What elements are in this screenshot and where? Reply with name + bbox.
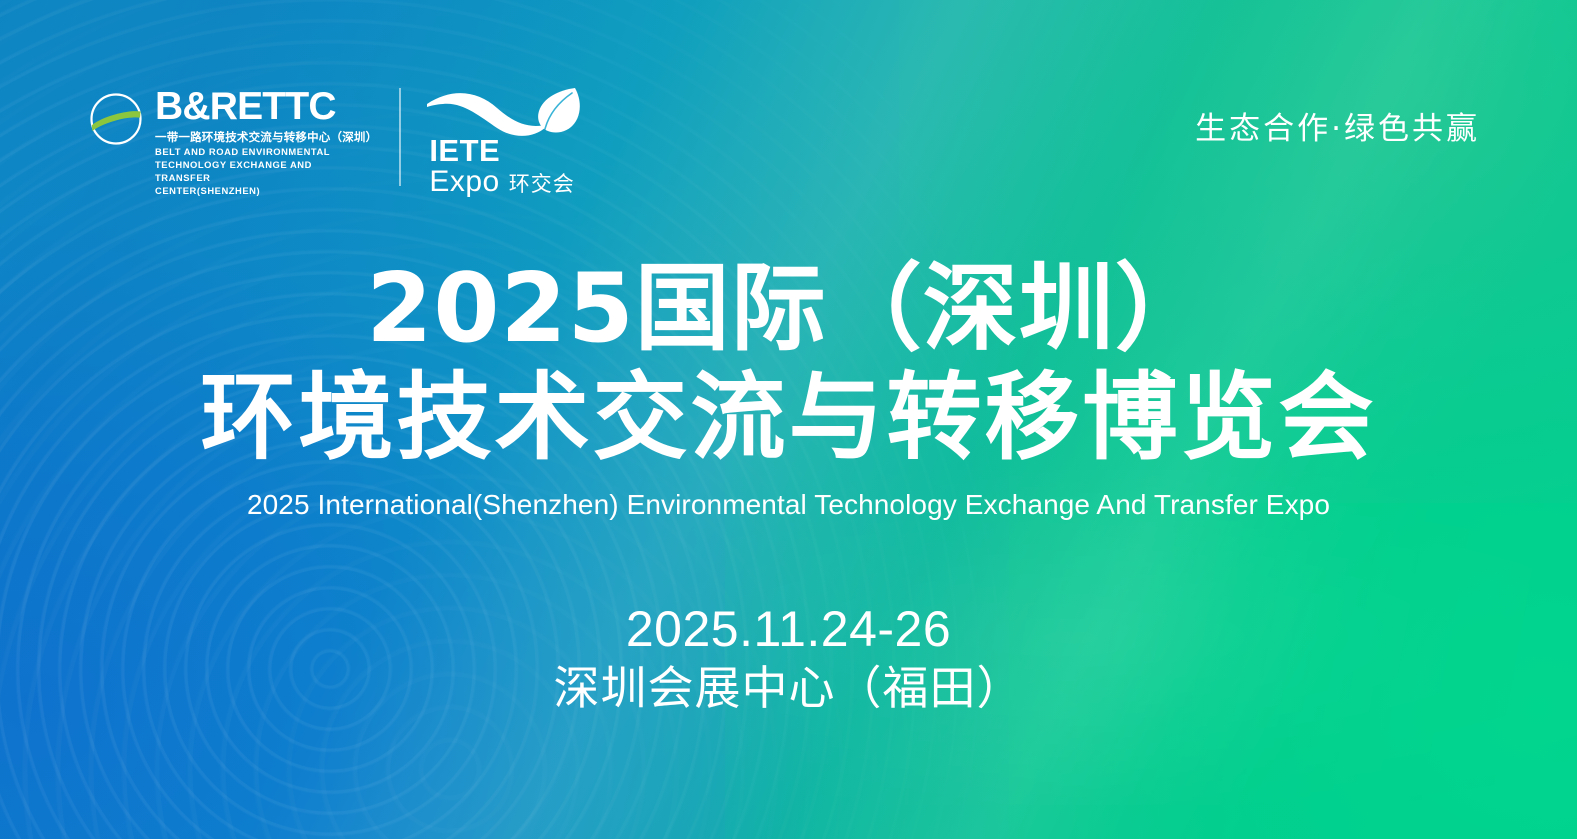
page-title-line-2: 环境技术交流与转移博览会 xyxy=(0,365,1577,471)
iete-wordmark: IETE xyxy=(429,135,574,166)
event-info-block: 2025.11.24-26 深圳会展中心（福田） xyxy=(0,601,1577,715)
brettc-name-en-line1: BELT AND ROAD ENVIRONMENTAL xyxy=(155,146,360,159)
iete-subline: Expo 环交会 xyxy=(429,166,574,198)
expo-banner: B&RETTC 一带一路环境技术交流与转移中心（深圳） BELT AND ROA… xyxy=(0,0,1577,839)
logo-row: B&RETTC 一带一路环境技术交流与转移中心（深圳） BELT AND ROA… xyxy=(88,88,593,188)
event-venue: 深圳会展中心（福田） xyxy=(0,661,1577,715)
iete-expo-logo: IETE Expo 环交会 xyxy=(425,88,593,188)
brettc-wordmark: B&RETTC xyxy=(155,88,377,126)
globe-icon xyxy=(88,92,146,151)
brettc-name-en-line3: CENTER(SHENZHEN) xyxy=(155,185,360,198)
brettc-name-en-line2: TECHNOLOGY EXCHANGE AND TRANSFER xyxy=(155,159,360,185)
slogan: 生态合作·绿色共赢 xyxy=(1195,103,1480,148)
brettc-name-cn: 一带一路环境技术交流与转移中心（深圳） xyxy=(155,130,377,144)
iete-expo-label-cn: 环交会 xyxy=(509,168,575,198)
banner-content: B&RETTC 一带一路环境技术交流与转移中心（深圳） BELT AND ROA… xyxy=(0,0,1577,839)
brettc-text-block: B&RETTC 一带一路环境技术交流与转移中心（深圳） BELT AND ROA… xyxy=(155,88,377,198)
page-title-line-1: 2025国际（深圳） xyxy=(0,258,1577,361)
headline-block: 2025国际（深圳） 环境技术交流与转移博览会 2025 Internation… xyxy=(0,258,1577,521)
page-subtitle-en: 2025 International(Shenzhen) Environment… xyxy=(0,489,1577,521)
event-date: 2025.11.24-26 xyxy=(0,601,1577,657)
brettc-logo: B&RETTC 一带一路环境技术交流与转移中心（深圳） BELT AND ROA… xyxy=(88,88,401,186)
brettc-name-en: BELT AND ROAD ENVIRONMENTAL TECHNOLOGY E… xyxy=(155,146,360,198)
iete-expo-label: Expo xyxy=(429,166,499,198)
iete-text-block: IETE Expo 环交会 xyxy=(429,135,574,198)
